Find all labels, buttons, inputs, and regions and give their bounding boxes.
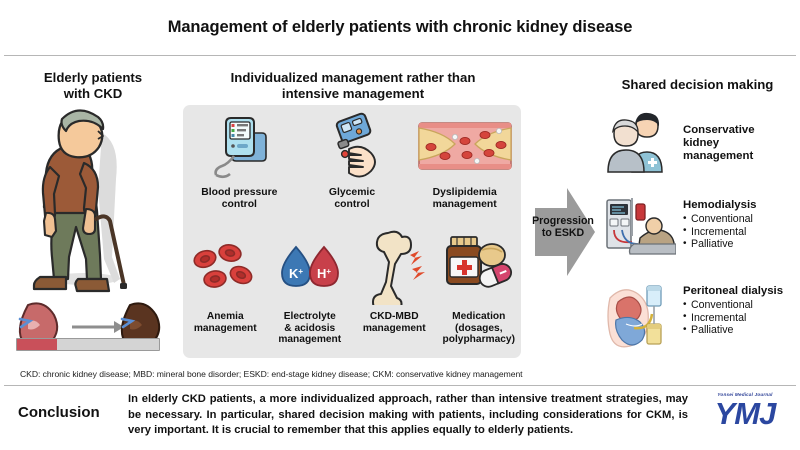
hemodialysis-machine-icon: [604, 194, 676, 256]
management-item-medication[interactable]: Medication (dosages, polypharmacy): [437, 227, 522, 355]
header-divider: [4, 55, 796, 56]
bullet-item: Palliative: [683, 324, 783, 336]
management-item-label: Glycemic control: [329, 187, 375, 210]
glucometer-fingerstick-icon: [315, 109, 389, 181]
conclusion-label: Conclusion: [18, 404, 128, 421]
peritoneal-dialysis-icon: [604, 280, 676, 342]
right-column-heading: Shared decision making: [600, 77, 795, 93]
arrow-icon: [72, 321, 124, 333]
label-line2: management: [194, 323, 257, 335]
individualized-management-panel: Blood pressure control: [183, 105, 521, 358]
title-line2: kidney: [683, 137, 755, 150]
ymj-logo: Yonsei Medical Journal YMJ: [697, 392, 793, 438]
medication-bottle-pills-icon: [437, 227, 521, 305]
bullet-item: Incremental: [683, 226, 756, 238]
management-item-ckd-mbd[interactable]: CKD-MBD management: [352, 227, 437, 355]
label-line1: Blood pressure: [201, 187, 277, 199]
bone-pain-icon: [354, 227, 434, 305]
label-line1: Electrolyte: [278, 311, 341, 323]
management-item-label: CKD-MBD management: [363, 311, 426, 334]
treatment-option-bullets: Conventional Incremental Palliative: [683, 299, 783, 336]
center-heading-line2: intensive management: [183, 86, 523, 102]
atherosclerotic-artery-icon: [415, 109, 515, 181]
management-item-label: Dyslipidemia management: [433, 187, 497, 210]
elderly-man-with-cane-icon: [10, 105, 180, 360]
progression-label: Progression to ESKD: [523, 215, 603, 239]
logo-wordmark: YMJ: [697, 397, 793, 431]
management-row-top: Blood pressure control: [183, 109, 521, 221]
label-line2: & acidosis: [278, 323, 341, 335]
center-heading-line1: Individualized management rather than: [183, 70, 523, 86]
center-column-heading: Individualized management rather than in…: [183, 70, 523, 102]
title-bar: Management of elderly patients with chro…: [0, 0, 800, 55]
conclusion-text: In elderly CKD patients, a more individu…: [128, 392, 688, 439]
label-line1: CKD-MBD: [363, 311, 426, 323]
treatment-option-peritoneal[interactable]: Peritoneal dialysis Conventional Increme…: [604, 272, 796, 350]
ckd-progress-bar: [16, 338, 160, 351]
management-item-label: Electrolyte & acidosis management: [278, 311, 341, 346]
conclusion-divider: [4, 385, 796, 386]
treatment-option-text: Conservative kidney management: [683, 124, 755, 163]
blood-pressure-monitor-icon: [202, 109, 276, 181]
title-line1: Conservative: [683, 124, 755, 137]
progression-label-line1: Progression: [523, 215, 603, 227]
bullet-item: Palliative: [683, 238, 756, 250]
two-patients-icon: [604, 112, 676, 174]
left-column-heading: Elderly patients with CKD: [8, 70, 178, 102]
treatment-option-title: Peritoneal dialysis: [683, 285, 783, 298]
electrolyte-droplets-icon: K+ H+: [270, 227, 350, 305]
title-line3: management: [683, 150, 755, 163]
management-item-label: Anemia management: [194, 311, 257, 334]
treatment-option-text: Hemodialysis Conventional Incremental Pa…: [683, 199, 756, 250]
label-line3: polypharmacy): [443, 334, 515, 346]
bullet-item: Conventional: [683, 213, 756, 225]
treatment-option-conservative[interactable]: Conservative kidney management: [604, 112, 796, 174]
label-line1: Anemia: [194, 311, 257, 323]
treatment-option-bullets: Conventional Incremental Palliative: [683, 213, 756, 250]
label-line2: management: [433, 199, 497, 211]
left-heading-line1: Elderly patients: [8, 70, 178, 86]
label-line1: Medication: [443, 311, 515, 323]
label-line3: management: [278, 334, 341, 346]
abbreviations-footnote: CKD: chronic kidney disease; MBD: minera…: [20, 369, 680, 379]
ckd-progress-fill: [17, 339, 57, 350]
page-title: Management of elderly patients with chro…: [168, 18, 633, 37]
label-line1: Glycemic: [329, 187, 375, 199]
bullet-item: Conventional: [683, 299, 783, 311]
management-item-electrolyte[interactable]: K+ H+ Electrolyte & acidosis management: [268, 227, 353, 355]
label-line2: control: [329, 199, 375, 211]
infographic-page: Management of elderly patients with chro…: [0, 0, 800, 450]
management-item-glycemic[interactable]: Glycemic control: [296, 109, 409, 221]
treatment-option-title: Hemodialysis: [683, 199, 756, 212]
treatment-option-hemodialysis[interactable]: Hemodialysis Conventional Incremental Pa…: [604, 190, 796, 260]
management-item-dyslipidemia[interactable]: Dyslipidemia management: [408, 109, 521, 221]
management-item-anemia[interactable]: Anemia management: [183, 227, 268, 355]
label-line2: (dosages,: [443, 323, 515, 335]
red-blood-cells-icon: [185, 227, 265, 305]
management-item-label: Blood pressure control: [201, 187, 277, 210]
label-line2: control: [201, 199, 277, 211]
treatment-option-title: Conservative kidney management: [683, 124, 755, 163]
treatment-option-text: Peritoneal dialysis Conventional Increme…: [683, 285, 783, 336]
label-line2: management: [363, 323, 426, 335]
left-heading-line2: with CKD: [8, 86, 178, 102]
progression-label-line2: to ESKD: [523, 227, 603, 239]
management-row-bottom: Anemia management K+ H+ Electrolyte & ac…: [183, 227, 521, 355]
label-line1: Dyslipidemia: [433, 187, 497, 199]
bullet-item: Incremental: [683, 312, 783, 324]
management-item-label: Medication (dosages, polypharmacy): [443, 311, 515, 346]
elderly-patient-illustration: [10, 105, 180, 360]
management-item-blood-pressure[interactable]: Blood pressure control: [183, 109, 296, 221]
